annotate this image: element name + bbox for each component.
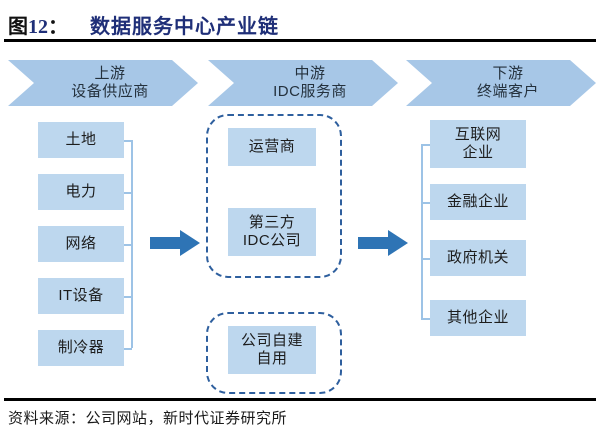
figure-container: 图12：数据服务中心产业链 上游 设备供应商 中游 IDC服务商 下游 终端客户… — [0, 0, 600, 437]
node-it-equipment: IT设备 — [38, 278, 124, 314]
node-power: 电力 — [38, 174, 124, 210]
page-title: 数据服务中心产业链 — [90, 16, 279, 38]
figure-number: 12 — [28, 16, 48, 38]
stage-downstream-line1: 下游 — [477, 65, 539, 83]
stage-upstream-line1: 上游 — [71, 65, 149, 83]
node-government-agency: 政府机关 — [430, 240, 526, 276]
stage-header-downstream: 下游 终端客户 — [406, 60, 596, 106]
node-finance-enterprise: 金融企业 — [430, 184, 526, 220]
node-third-party-idc: 第三方 IDC公司 — [228, 208, 316, 256]
upstream-stub-land — [124, 140, 132, 142]
node-self-built-line1: 公司自建 — [241, 332, 303, 350]
flow-arrow-upstream-to-midstream — [150, 230, 200, 256]
figure-colon: ： — [48, 16, 68, 38]
figure-title: 图12：数据服务中心产业链 — [8, 10, 279, 39]
node-self-built-use: 公司自建 自用 — [228, 326, 316, 374]
figure-label: 图 — [8, 16, 28, 38]
stage-downstream-line2: 终端客户 — [477, 83, 539, 101]
downstream-bus-line — [421, 144, 423, 318]
node-other-enterprise: 其他企业 — [430, 300, 526, 336]
node-operator-line1: 运营商 — [249, 138, 296, 156]
source-rule — [4, 398, 596, 401]
title-rule — [4, 39, 596, 42]
upstream-stub-power — [124, 192, 132, 194]
node-internet-line1: 互联网 — [455, 126, 502, 144]
node-internet-line2: 企业 — [455, 144, 502, 162]
node-land: 土地 — [38, 122, 124, 158]
upstream-stub-it — [124, 296, 132, 298]
node-third-party-line2: IDC公司 — [243, 232, 301, 250]
upstream-stub-network — [124, 244, 132, 246]
node-internet-enterprise: 互联网 企业 — [430, 120, 526, 168]
stage-upstream-line2: 设备供应商 — [71, 83, 149, 101]
node-operator: 运营商 — [228, 128, 316, 166]
stage-midstream-line2: IDC服务商 — [273, 83, 347, 101]
upstream-stub-cooling — [124, 348, 132, 350]
flow-arrow-midstream-to-downstream — [358, 230, 408, 256]
node-third-party-line1: 第三方 — [243, 214, 301, 232]
stage-header-upstream: 上游 设备供应商 — [8, 60, 198, 106]
stage-header-midstream: 中游 IDC服务商 — [208, 60, 398, 106]
node-self-built-line2: 自用 — [241, 350, 303, 368]
stage-midstream-line1: 中游 — [273, 65, 347, 83]
node-cooling: 制冷器 — [38, 330, 124, 366]
node-network: 网络 — [38, 226, 124, 262]
diagram-canvas: 上游 设备供应商 中游 IDC服务商 下游 终端客户 土地 电力 网络 IT设备… — [0, 44, 600, 396]
source-note: 资料来源：公司网站，新时代证券研究所 — [8, 407, 287, 428]
